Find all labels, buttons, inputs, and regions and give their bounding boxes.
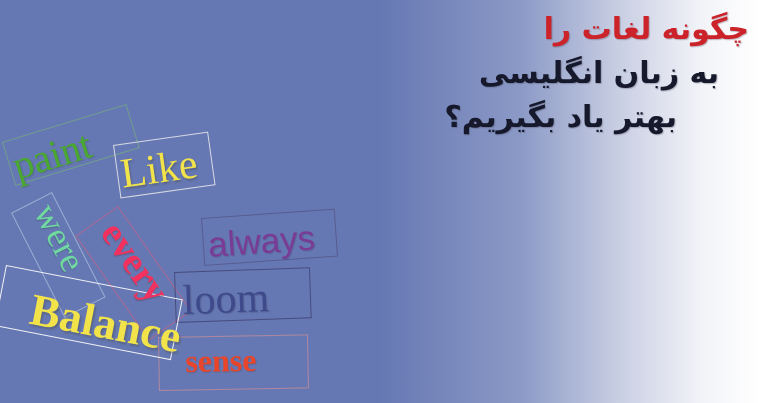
- word-card-paint: paint: [8, 125, 96, 187]
- headline-line-2: به زبان انگلیسی: [229, 52, 749, 96]
- slide-canvas: چگونه لغات را به زبان انگلیسی بهتر یاد ب…: [0, 0, 767, 403]
- word-card-sense: sense: [185, 344, 257, 377]
- word-cloud: paint were Like every always loom Balanc…: [0, 140, 360, 403]
- headline: چگونه لغات را به زبان انگلیسی بهتر یاد ب…: [229, 8, 749, 140]
- word-card-always: always: [207, 221, 316, 263]
- word-card-loom: loom: [182, 277, 270, 322]
- headline-line-3: بهتر یاد بگیریم؟: [229, 96, 749, 140]
- headline-line-1: چگونه لغات را: [229, 8, 749, 52]
- word-card-like: Like: [118, 143, 200, 195]
